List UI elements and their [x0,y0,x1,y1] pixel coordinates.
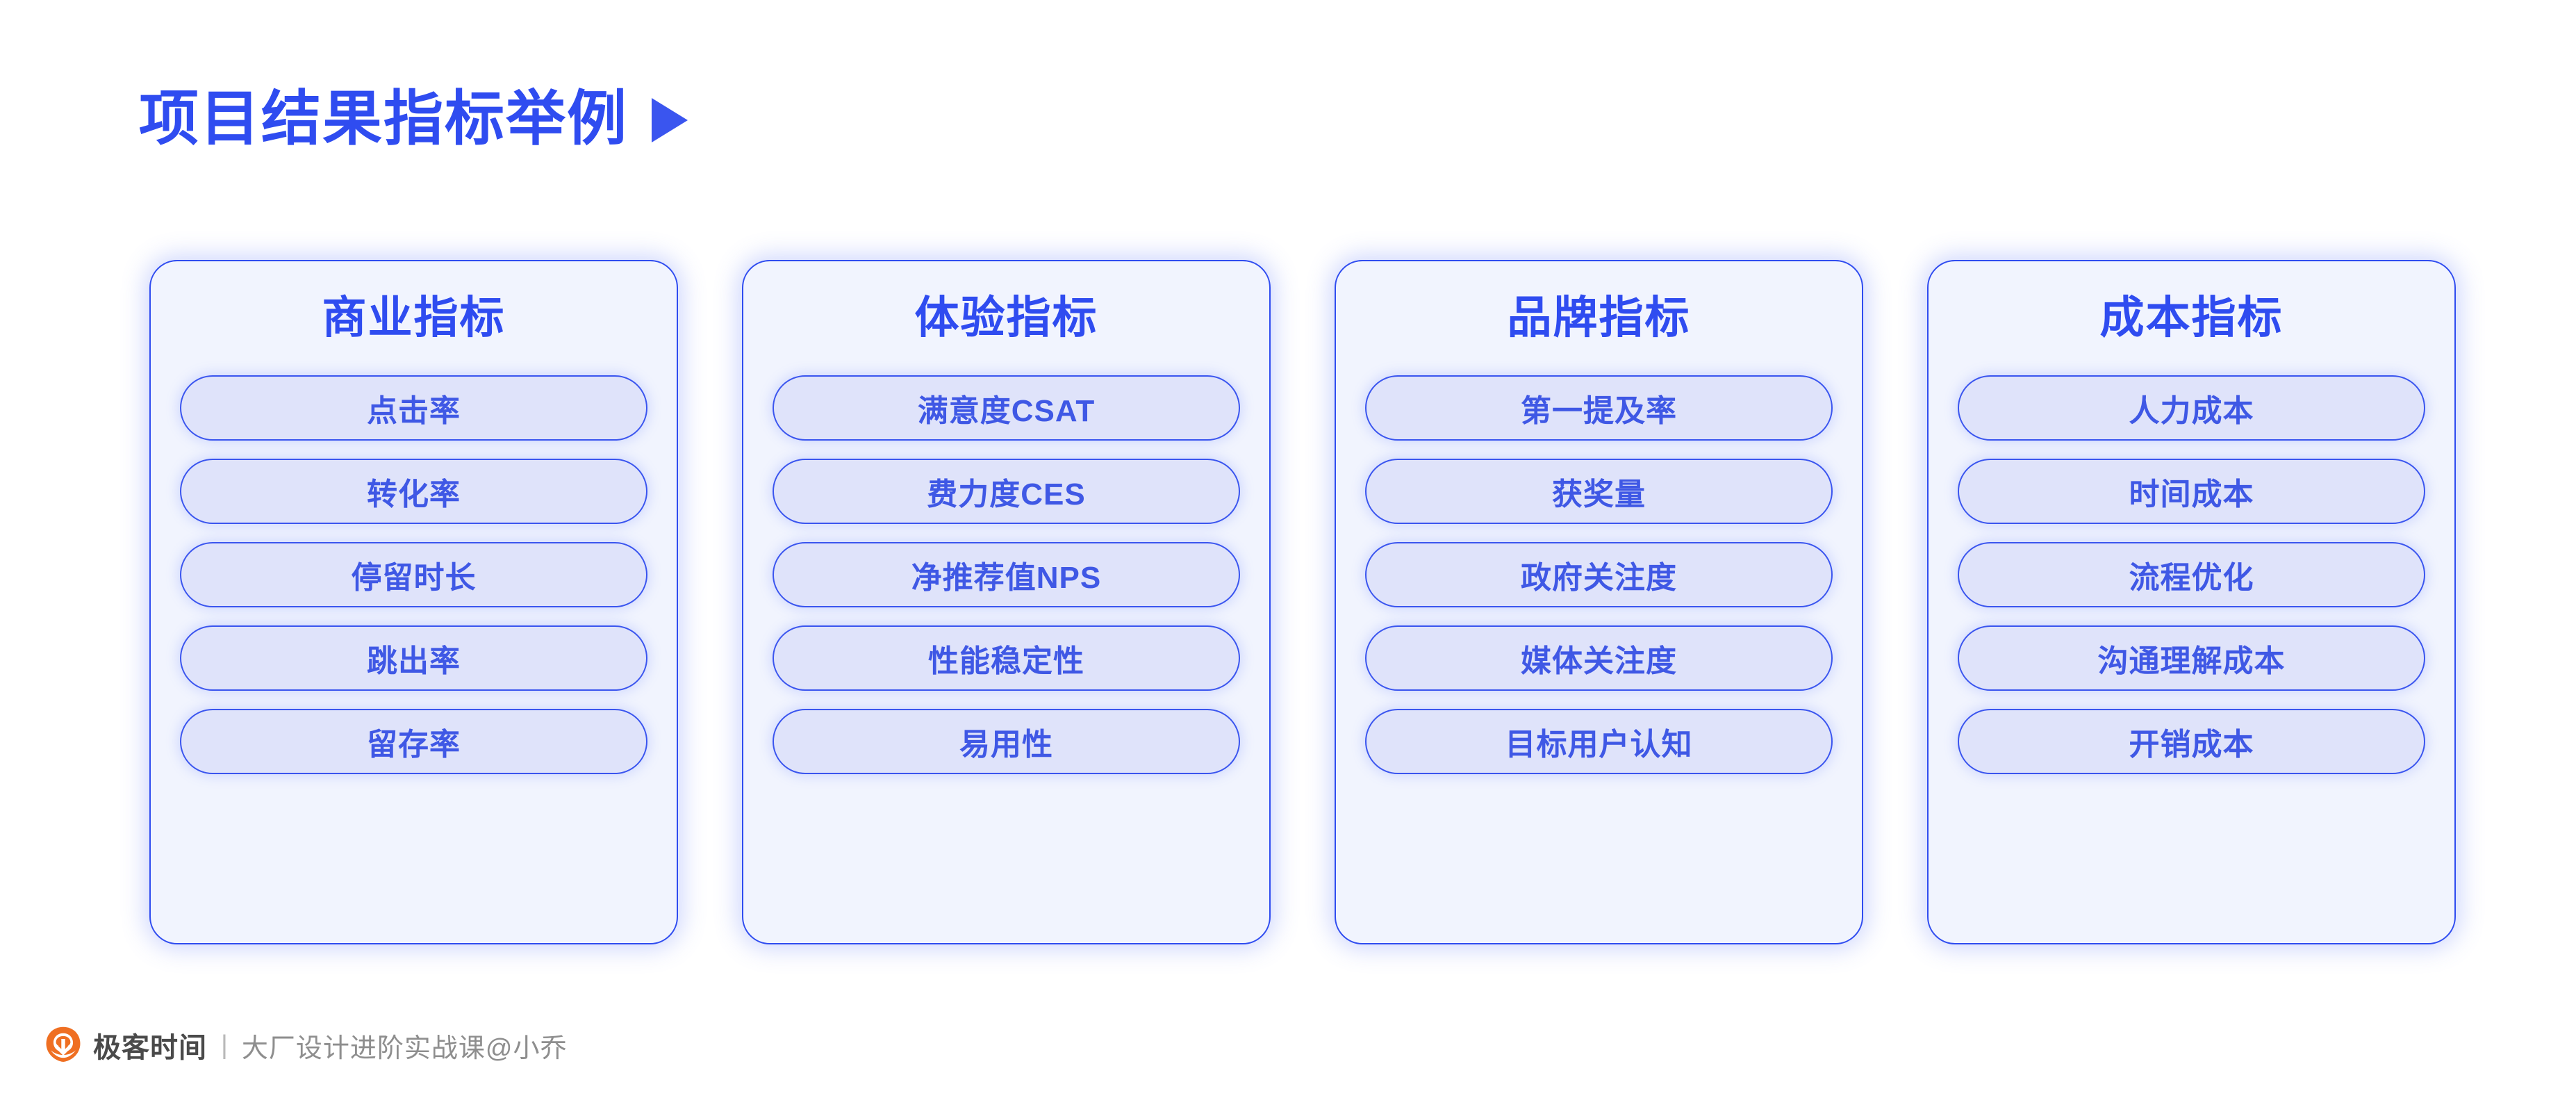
card-title: 品牌指标 [1508,293,1691,342]
metric-pill[interactable]: 满意度CSAT [773,375,1240,441]
page-title: 项目结果指标举例 [139,89,628,149]
metric-pill[interactable]: 点击率 [180,375,647,441]
metric-pill-label: 留存率 [367,719,461,764]
footer-divider: | [221,1031,228,1060]
card-title: 成本指标 [2100,293,2284,342]
metric-card-business[interactable]: 商业指标 点击率 转化率 停留时长 跳出率 留存率 [149,260,678,944]
metric-pill[interactable]: 留存率 [180,709,647,774]
metric-pill-label: 沟通理解成本 [2098,636,2286,680]
metric-pill[interactable]: 停留时长 [180,542,647,607]
metric-pill-list: 人力成本 时间成本 流程优化 沟通理解成本 开销成本 [1958,375,2425,774]
metric-pill-label: 开销成本 [2129,719,2254,764]
metric-pill[interactable]: 性能稳定性 [773,625,1240,691]
metric-pill-list: 点击率 转化率 停留时长 跳出率 留存率 [180,375,647,774]
metric-pill-label: 易用性 [959,719,1053,764]
metric-pill-label: 跳出率 [367,636,461,680]
metric-pill-list: 第一提及率 获奖量 政府关注度 媒体关注度 目标用户认知 [1365,375,1833,774]
metric-pill-label: 目标用户认知 [1505,719,1693,764]
metric-cards-row: 商业指标 点击率 转化率 停留时长 跳出率 留存率 体验指标 满意度CSAT 费… [149,260,2456,944]
footer: 极客时间 | 大厂设计进阶实战课@小乔 [43,1025,567,1065]
card-title: 体验指标 [915,293,1098,342]
metric-pill[interactable]: 转化率 [180,459,647,524]
metric-pill-label: 性能稳定性 [928,636,1084,680]
metric-pill[interactable]: 跳出率 [180,625,647,691]
geekbang-pin-logo-icon [43,1025,83,1065]
metric-pill[interactable]: 净推荐值NPS [773,542,1240,607]
metric-pill[interactable]: 费力度CES [773,459,1240,524]
metric-pill-label: 第一提及率 [1521,386,1677,430]
metric-pill[interactable]: 获奖量 [1365,459,1833,524]
metric-pill-label: 停留时长 [352,552,477,597]
metric-pill[interactable]: 流程优化 [1958,542,2425,607]
metric-pill-label: 转化率 [367,469,461,514]
metric-card-brand[interactable]: 品牌指标 第一提及率 获奖量 政府关注度 媒体关注度 目标用户认知 [1335,260,1863,944]
brand-name: 极客时间 [93,1025,207,1065]
metric-pill[interactable]: 时间成本 [1958,459,2425,524]
metric-pill[interactable]: 沟通理解成本 [1958,625,2425,691]
page-title-row: 项目结果指标举例 [139,89,688,149]
card-title: 商业指标 [322,293,506,342]
metric-pill-label: 政府关注度 [1521,552,1677,597]
metric-pill-list: 满意度CSAT 费力度CES 净推荐值NPS 性能稳定性 易用性 [773,375,1240,774]
metric-pill[interactable]: 第一提及率 [1365,375,1833,441]
metric-pill[interactable]: 开销成本 [1958,709,2425,774]
play-triangle-icon [652,98,688,142]
metric-pill[interactable]: 目标用户认知 [1365,709,1833,774]
metric-pill-label: 流程优化 [2129,552,2254,597]
metric-pill-label: 时间成本 [2129,469,2254,514]
metric-pill-label: 获奖量 [1552,469,1646,514]
metric-pill[interactable]: 易用性 [773,709,1240,774]
metric-pill-label: 费力度CES [927,469,1085,514]
footer-note: 大厂设计进阶实战课@小乔 [242,1026,568,1065]
metric-pill-label: 满意度CSAT [918,386,1096,430]
metric-pill-label: 净推荐值NPS [911,552,1101,597]
metric-pill[interactable]: 人力成本 [1958,375,2425,441]
metric-pill-label: 点击率 [367,386,461,430]
metric-card-cost[interactable]: 成本指标 人力成本 时间成本 流程优化 沟通理解成本 开销成本 [1927,260,2456,944]
metric-card-experience[interactable]: 体验指标 满意度CSAT 费力度CES 净推荐值NPS 性能稳定性 易用性 [742,260,1271,944]
metric-pill[interactable]: 政府关注度 [1365,542,1833,607]
metric-pill[interactable]: 媒体关注度 [1365,625,1833,691]
metric-pill-label: 人力成本 [2129,386,2254,430]
metric-pill-label: 媒体关注度 [1521,636,1677,680]
